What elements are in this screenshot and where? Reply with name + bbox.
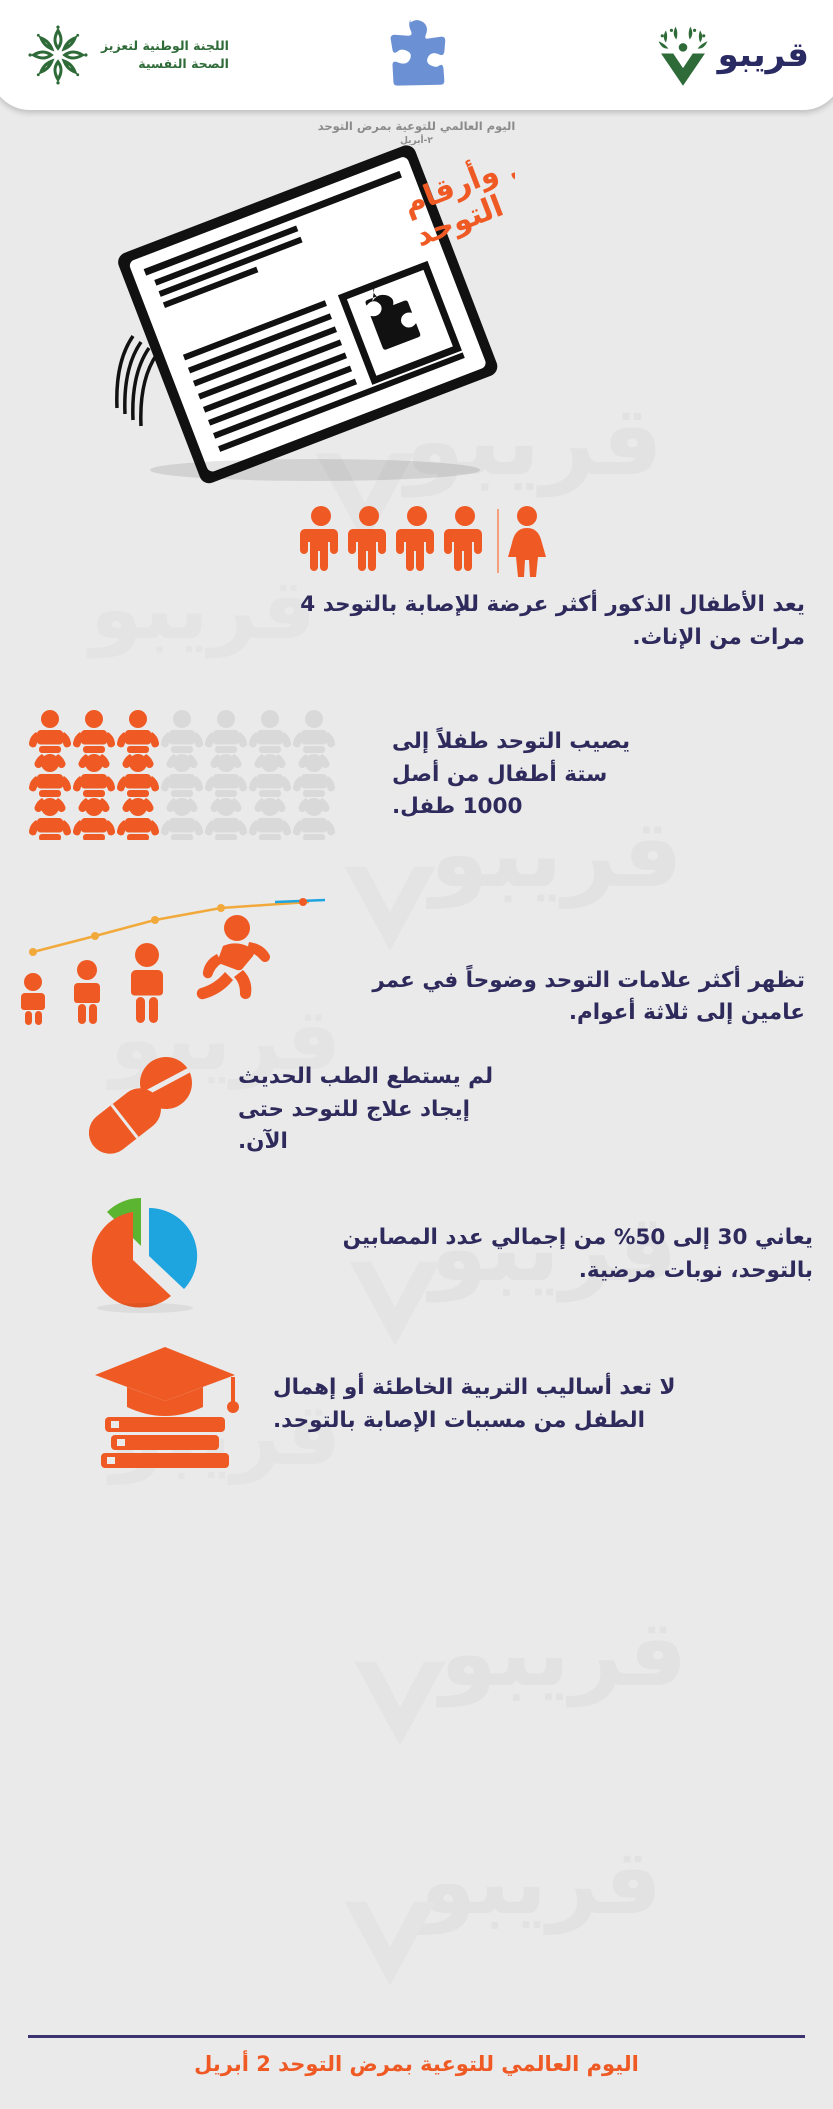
- watermark-v-icon: [330, 1880, 450, 2000]
- fact-row-onset-age: تظهر أكثر علامات التوحد وضوحاً في عمر عا…: [13, 880, 813, 1030]
- qaribo-brand-logo: قريبو: [652, 23, 809, 87]
- qaribo-person-icon: [652, 23, 714, 87]
- fact-row-gender-ratio: يعد الأطفال الذكور أكثر عرضة للإصابة بال…: [295, 505, 815, 654]
- watermark-v-icon: [340, 1640, 460, 1760]
- ncmh-logo-text: اللجنة الوطنية لتعزيز الصحة النفسية: [101, 37, 229, 73]
- watermark-text: قريبو: [440, 1600, 687, 1707]
- badge-date: ٢-أبريل: [287, 135, 547, 149]
- newspaper-graphic: حقائق وأرقام عن مرض التوحد: [95, 140, 515, 490]
- fact-row-seizures: يعاني 30 إلى 50% من إجمالي عدد المصابين …: [53, 1190, 813, 1320]
- fact-row-no-cure: لم يستطع الطب الحديث إيجاد علاج للتوحد ح…: [70, 1045, 510, 1175]
- badge-title: اليوم العالمي للتوعية بمرض التوحد: [318, 119, 516, 133]
- badge-caption: اليوم العالمي للتوعية بمرض التوحد ٢-أبري…: [287, 118, 547, 149]
- watermark-text: قريبو: [90, 560, 316, 658]
- fact-text-not-parenting: لا تعد أساليب التربية الخاطئة أو إهمال ا…: [273, 1372, 715, 1437]
- pills-capsule-icon: [70, 1045, 220, 1175]
- ncmh-starburst-icon: [24, 21, 92, 89]
- five-people-figures-icon: [295, 505, 585, 577]
- autism-puzzle-piece-icon: [384, 18, 450, 110]
- fact-text-gender-ratio: يعد الأطفال الذكور أكثر عرضة للإصابة بال…: [295, 589, 815, 654]
- fact-text-no-cure: لم يستطع الطب الحديث إيجاد علاج للتوحد ح…: [238, 1061, 510, 1159]
- fact-text-seizures: يعاني 30 إلى 50% من إجمالي عدد المصابين …: [259, 1222, 813, 1287]
- footer-title: اليوم العالمي للتوعية بمرض التوحد 2 أبري…: [0, 2052, 833, 2076]
- growth-chart-children-icon: [13, 880, 333, 1030]
- footer-divider: [28, 2035, 805, 2038]
- watermark-text: قريبو: [420, 1830, 662, 1935]
- fact-text-prevalence: يصيب التوحد طفلاً إلى ستة أطفال من أصل 1…: [392, 726, 648, 824]
- fact-row-prevalence: يصيب التوحد طفلاً إلى ستة أطفال من أصل 1…: [28, 710, 648, 840]
- infographic-page: قريبو قريبو قريبو قريبو قريبو قريبو قريب…: [0, 0, 833, 2109]
- children-grid-figures-icon: [28, 710, 378, 840]
- fact-row-not-parenting: لا تعد أساليب التربية الخاطئة أو إهمال ا…: [75, 1335, 715, 1475]
- pie-chart-icon: [53, 1190, 243, 1320]
- fact-text-onset-age: تظهر أكثر علامات التوحد وضوحاً في عمر عا…: [343, 965, 813, 1030]
- autism-awareness-badge: اليوم العالمي للتوعية بمرض التوحد ٢-أبري…: [287, 18, 547, 149]
- graduation-cap-books-icon: [75, 1335, 255, 1475]
- qaribo-brand-text: قريبو: [718, 35, 809, 75]
- ncmh-logo: اللجنة الوطنية لتعزيز الصحة النفسية: [24, 21, 229, 89]
